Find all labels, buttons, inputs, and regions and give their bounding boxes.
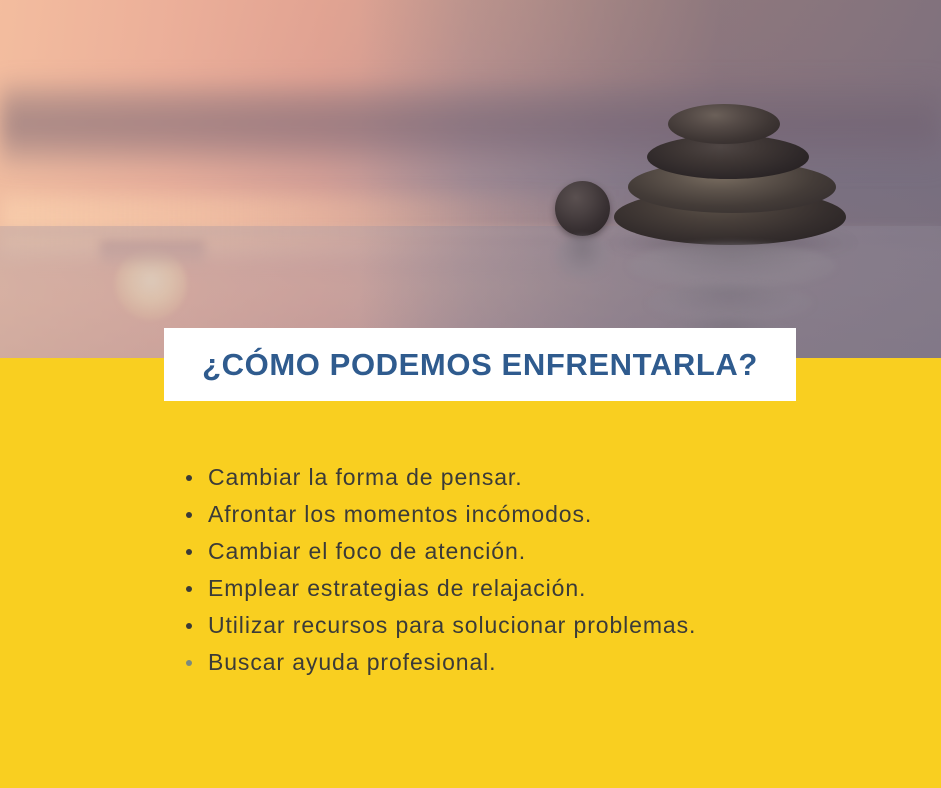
list-item-label: Emplear estrategias de relajación.	[208, 575, 586, 601]
bullet-icon	[186, 549, 192, 555]
page-title: ¿CÓMO PODEMOS ENFRENTARLA?	[202, 347, 758, 383]
strategy-list: Cambiar la forma de pensar. Afrontar los…	[186, 459, 886, 681]
list-item-label: Cambiar el foco de atención.	[208, 538, 526, 564]
list-item-label: Buscar ayuda profesional.	[208, 649, 496, 675]
bullet-icon	[186, 586, 192, 592]
list-item: Cambiar la forma de pensar.	[186, 459, 886, 496]
stone-top	[668, 104, 780, 144]
round-stone	[555, 181, 610, 236]
bullet-icon	[186, 623, 192, 629]
list-item: Utilizar recursos para solucionar proble…	[186, 607, 886, 644]
list-item: Afrontar los momentos incómodos.	[186, 496, 886, 533]
bullet-icon	[186, 512, 192, 518]
list-item: Buscar ayuda profesional.	[186, 644, 886, 681]
list-item-label: Cambiar la forma de pensar.	[208, 464, 523, 490]
bullet-icon	[186, 475, 192, 481]
bullet-icon	[186, 660, 192, 666]
list-item-label: Utilizar recursos para solucionar proble…	[208, 612, 696, 638]
list-item: Emplear estrategias de relajación.	[186, 570, 886, 607]
list-item: Cambiar el foco de atención.	[186, 533, 886, 570]
hero-photo	[0, 0, 941, 358]
poster: ¿CÓMO PODEMOS ENFRENTARLA? Cambiar la fo…	[0, 0, 941, 788]
list-item-label: Afrontar los momentos incómodos.	[208, 501, 592, 527]
title-banner: ¿CÓMO PODEMOS ENFRENTARLA?	[164, 328, 796, 401]
round-stone-reflection	[555, 236, 610, 278]
